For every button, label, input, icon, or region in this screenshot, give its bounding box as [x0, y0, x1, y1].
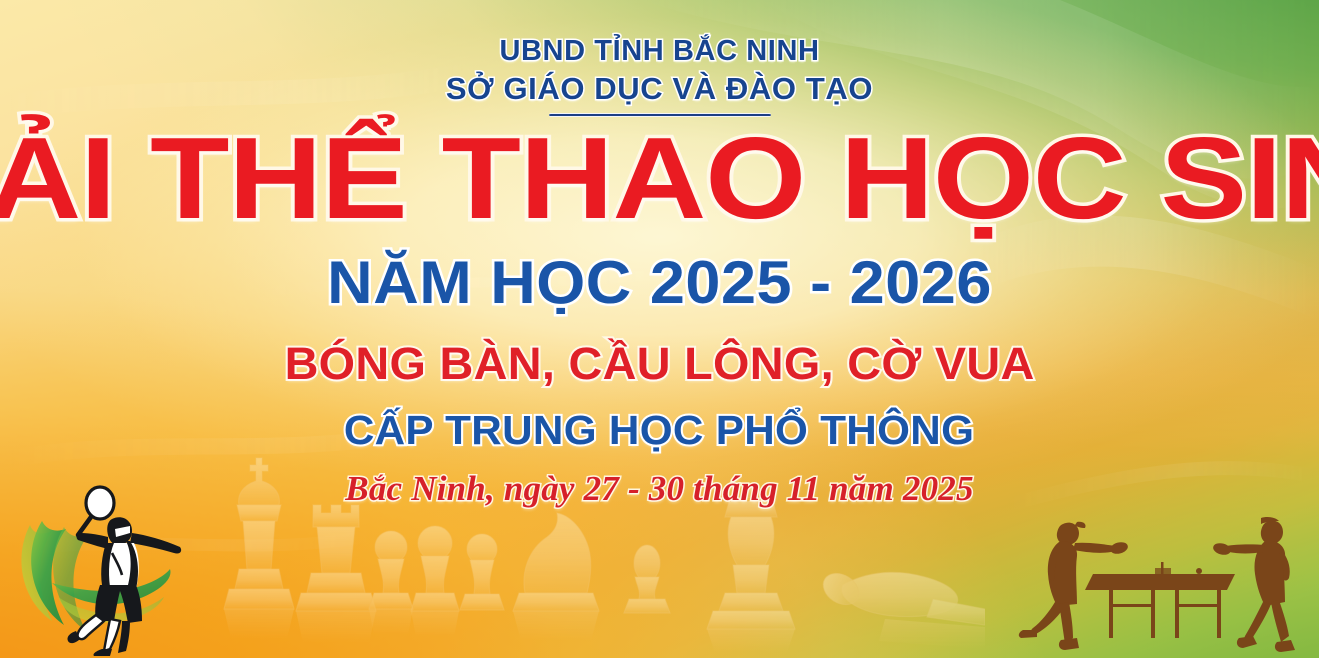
date-place-line: Bắc Ninh, ngày 27 - 30 tháng 11 năm 2025 — [345, 469, 973, 509]
main-title: GIẢI THỂ THAO HỌC SINH — [0, 123, 1319, 234]
education-level-line: CẤP TRUNG HỌC PHỔ THÔNG — [344, 407, 974, 454]
school-year-line: NĂM HỌC 2025 - 2026 — [327, 248, 992, 317]
sports-list-line: BÓNG BÀN, CẦU LÔNG, CỜ VUA — [284, 338, 1034, 390]
organization-line-2: SỞ GIÁO DỤC VÀ ĐÀO TẠO — [446, 72, 873, 105]
banner-text-block: UBND TỈNH BẮC NINH SỞ GIÁO DỤC VÀ ĐÀO TẠ… — [0, 0, 1319, 658]
organization-line-1: UBND TỈNH BẮC NINH — [499, 36, 819, 67]
event-banner: UBND TỈNH BẮC NINH SỞ GIÁO DỤC VÀ ĐÀO TẠ… — [0, 0, 1319, 658]
